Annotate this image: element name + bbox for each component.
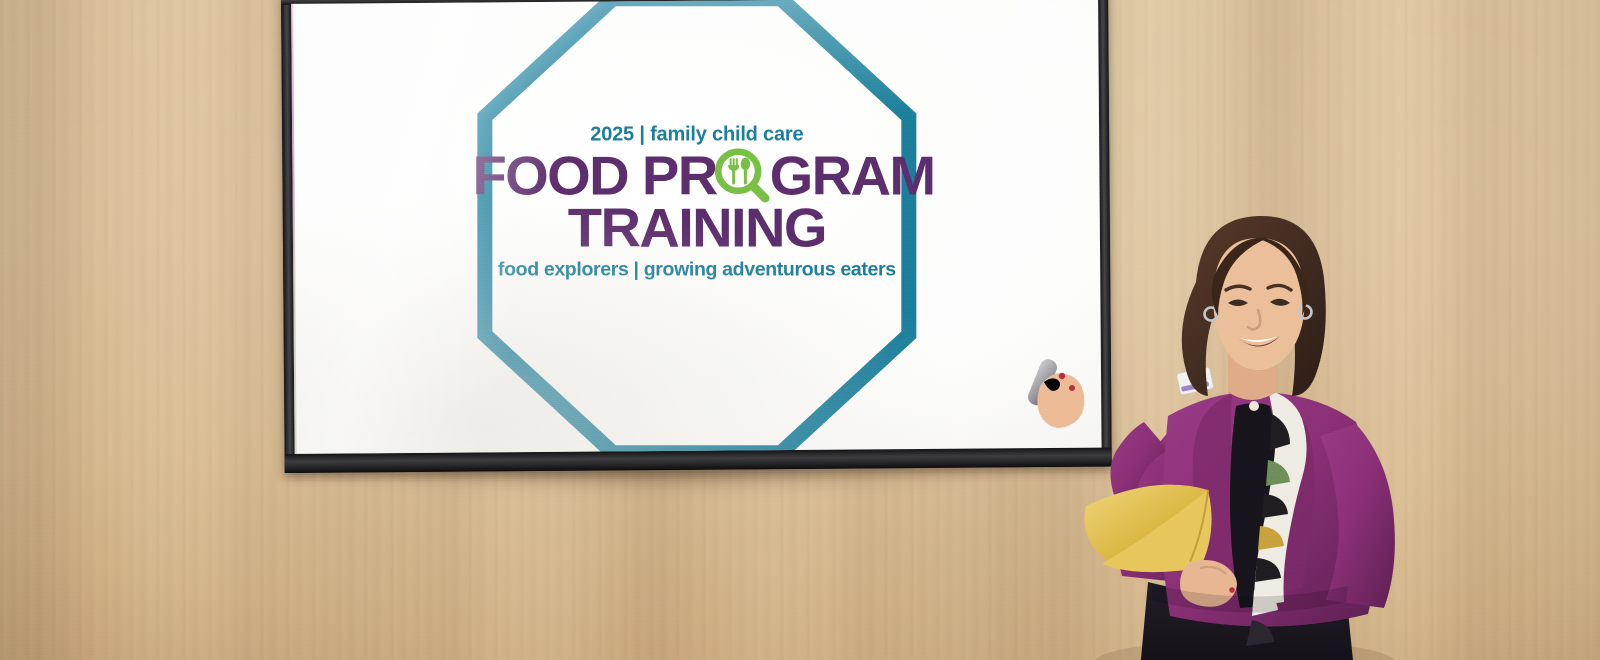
food-program-training-logo: 2025 | family child care FOOD PR — [476, 0, 916, 454]
magnifying-glass-with-fork-and-spoon-icon — [714, 148, 771, 204]
presenter-folder — [1084, 485, 1211, 572]
headline-after-icon: GRAM — [769, 151, 934, 202]
presenter-person — [1000, 210, 1440, 660]
presenter-nail — [1059, 373, 1065, 379]
logo-kicker: 2025 | family child care — [476, 125, 916, 145]
logo-headline-line-1: FOOD PR — [472, 151, 921, 203]
presenter-necklace-pendant — [1249, 401, 1259, 411]
projection-screen[interactable]: 2025 | family child care FOOD PR — [281, 0, 1112, 473]
logo-text-block: 2025 | family child care FOOD PR — [476, 125, 916, 280]
slide-canvas[interactable]: 2025 | family child care FOOD PR — [291, 0, 1102, 454]
logo-headline-line-2: TRAINING — [472, 203, 921, 254]
presenter-hand-with-remote — [1026, 357, 1085, 428]
conference-room-scene: 2025 | family child care FOOD PR — [0, 0, 1600, 660]
headline-before-icon: FOOD PR — [472, 151, 716, 202]
presenter-hand — [1037, 373, 1084, 428]
logo-tagline: food explorers | growing adventurous eat… — [476, 260, 916, 280]
